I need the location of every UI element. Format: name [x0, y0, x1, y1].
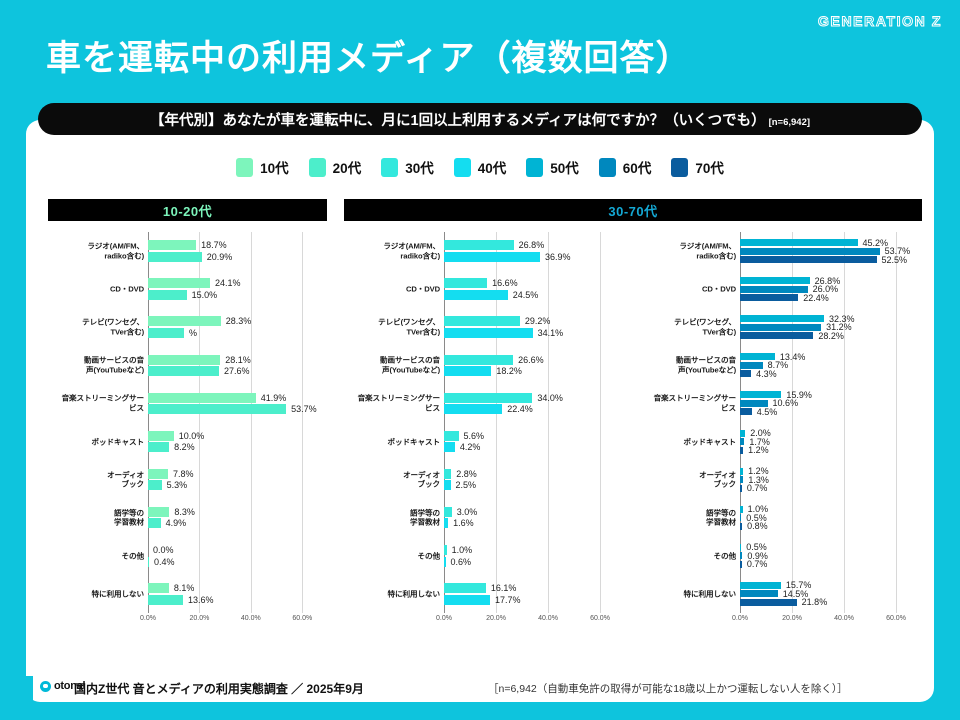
- bar-70代: 0.7%: [740, 485, 922, 492]
- x-tick-label: 0.0%: [732, 615, 748, 622]
- legend: 10代20代30代40代50代60代70代: [26, 157, 934, 177]
- legend-swatch-icon: [526, 158, 543, 177]
- category-label: ポッドキャスト: [48, 437, 144, 446]
- category-label: 語学等の学習教材: [640, 508, 736, 527]
- footer-title: 国内Z世代 音とメディアの利用実態調査 ／ 2025年9月: [74, 680, 364, 697]
- bar-40代: 4.2%: [444, 442, 626, 452]
- x-tick-label: 60.0%: [886, 615, 906, 622]
- category-label: ラジオ(AM/FM、radiko含む): [344, 242, 440, 261]
- bar-10代: 7.8%: [148, 469, 328, 479]
- category-label: ポッドキャスト: [344, 437, 440, 446]
- legend-item-60代: 60代: [599, 157, 652, 177]
- category-label: CD・DVD: [48, 284, 144, 293]
- bar-40代: 17.7%: [444, 595, 626, 605]
- x-tick-label: 60.0%: [590, 615, 610, 622]
- chart-category-row: 語学等の学習教材3.0%1.6%: [344, 499, 626, 537]
- bar-20代: 5.3%: [148, 480, 328, 490]
- bar-30代: 16.6%: [444, 278, 626, 288]
- bar-rect: [148, 518, 161, 528]
- chart-category-row: 音楽ストリーミングサービス34.0%22.4%: [344, 384, 626, 422]
- bar-40代: 24.5%: [444, 290, 626, 300]
- bar-rect: [148, 442, 169, 452]
- bar-50代: 26.8%: [740, 277, 922, 284]
- bar-rect: [740, 286, 808, 293]
- bar-rect: [444, 355, 513, 365]
- category-label: その他: [344, 551, 440, 560]
- bar-rect: [740, 370, 751, 377]
- x-tick-label: 20.0%: [189, 615, 209, 622]
- generation-z-badge: GENERATION Z: [818, 13, 942, 29]
- x-tick-label: 0.0%: [140, 615, 156, 622]
- chart-category-row: オーディオブック2.8%2.5%: [344, 461, 626, 499]
- bar-value-label: 36.9%: [545, 252, 571, 262]
- bar-10代: 18.7%: [148, 240, 328, 250]
- legend-label: 10代: [260, 157, 289, 177]
- bar-30代: 26.6%: [444, 355, 626, 365]
- bar-group: 16.6%24.5%: [444, 270, 626, 308]
- bar-40代: 2.5%: [444, 480, 626, 490]
- bar-10代: 10.0%: [148, 431, 328, 441]
- bar-group: 13.4%8.7%4.3%: [740, 346, 922, 384]
- bar-rect: [740, 544, 741, 551]
- chart-category-row: CD・DVD24.1%15.0%: [48, 270, 328, 308]
- bar-rect: [148, 431, 174, 441]
- bar-rect: [148, 355, 220, 365]
- bar-40代: 18.2%: [444, 366, 626, 376]
- bar-group: 26.8%36.9%: [444, 232, 626, 270]
- bar-10代: 41.9%: [148, 393, 328, 403]
- x-tick-label: 40.0%: [241, 615, 261, 622]
- bar-rect: [148, 480, 162, 490]
- bar-20代: 53.7%: [148, 404, 328, 414]
- bar-rect: [444, 595, 490, 605]
- bar-70代: 1.2%: [740, 447, 922, 454]
- legend-swatch-icon: [309, 158, 326, 177]
- chart-category-row: 動画サービスの音声(YouTubeなど)13.4%8.7%4.3%: [640, 346, 922, 384]
- chart-category-row: CD・DVD16.6%24.5%: [344, 270, 626, 308]
- chart-category-row: テレビ(ワンセグ、TVer含む)32.3%31.2%28.2%: [640, 308, 922, 346]
- page-title: 車を運転中の利用メディア（複数回答）: [46, 30, 692, 81]
- footer-note: ［n=6,942（自動車免許の取得が可能な18歳以上かつ運転しない人を除く）］: [488, 681, 848, 696]
- bar-value-label: 1.0%: [452, 545, 473, 555]
- chart-category-row: ポッドキャスト5.6%4.2%: [344, 423, 626, 461]
- bar-value-label: 0.7%: [747, 559, 768, 569]
- chart-panel-50-70: ラジオ(AM/FM、radiko含む)45.2%53.7%52.5%CD・DVD…: [640, 232, 922, 642]
- bar-value-label: 0.8%: [747, 521, 768, 531]
- bar-60代: 8.7%: [740, 362, 922, 369]
- bar-40代: 36.9%: [444, 252, 626, 262]
- x-axis-ticks: 0.0%20.0%40.0%60.0%: [740, 615, 922, 629]
- bar-value-label: 0.7%: [747, 483, 768, 493]
- bar-group: 15.9%10.6%4.5%: [740, 384, 922, 422]
- bar-rect: [740, 552, 742, 559]
- bar-rect: [740, 561, 742, 568]
- bar-60代: 1.3%: [740, 476, 922, 483]
- category-label: 特に利用しない: [48, 589, 144, 598]
- bar-rect: [740, 248, 880, 255]
- bar-group: 1.2%1.3%0.7%: [740, 461, 922, 499]
- legend-label: 50代: [550, 157, 579, 177]
- bar-70代: 21.8%: [740, 599, 922, 606]
- bar-value-label: 18.7%: [201, 240, 227, 250]
- bar-group: 24.1%15.0%: [148, 270, 328, 308]
- bar-value-label: 3.0%: [457, 507, 478, 517]
- legend-swatch-icon: [454, 158, 471, 177]
- chart-category-row: 特に利用しない15.7%14.5%21.8%: [640, 575, 922, 613]
- bar-rect: [148, 469, 168, 479]
- bar-rect: [148, 366, 219, 376]
- bar-rect: [740, 506, 743, 513]
- bar-30代: 5.6%: [444, 431, 626, 441]
- bar-value-label: 26.6%: [518, 355, 544, 365]
- bar-50代: 1.0%: [740, 506, 922, 513]
- category-label: 語学等の学習教材: [48, 508, 144, 527]
- bar-rect: [444, 442, 455, 452]
- question-text: 【年代別】あなたが車を運転中に、月に1回以上利用するメディアは何ですか？（いくつ…: [150, 109, 766, 130]
- category-label: その他: [640, 551, 736, 560]
- chart-category-row: オーディオブック7.8%5.3%: [48, 461, 328, 499]
- x-tick-label: 40.0%: [834, 615, 854, 622]
- x-tick-label: 20.0%: [486, 615, 506, 622]
- bar-group: 1.0%0.6%: [444, 537, 626, 575]
- chart-panel-10-20: ラジオ(AM/FM、radiko含む)18.7%20.9%CD・DVD24.1%…: [48, 232, 328, 642]
- bar-value-label: 13.6%: [188, 595, 214, 605]
- bar-rect: [444, 278, 487, 288]
- category-label: 動画サービスの音声(YouTubeなど): [48, 356, 144, 375]
- bar-value-label: 1.6%: [453, 518, 474, 528]
- chart-category-row: その他1.0%0.6%: [344, 537, 626, 575]
- chart-category-row: 特に利用しない8.1%13.6%: [48, 575, 328, 613]
- bar-value-label: 20.9%: [207, 252, 233, 262]
- bar-rect: [148, 316, 221, 326]
- bar-group: 16.1%17.7%: [444, 575, 626, 613]
- bar-50代: 32.3%: [740, 315, 922, 322]
- bar-value-label: 5.6%: [464, 431, 485, 441]
- bar-rect: [740, 353, 775, 360]
- category-label: オーディオブック: [344, 470, 440, 489]
- bar-rect: [740, 391, 781, 398]
- bar-value-label: 5.3%: [167, 480, 188, 490]
- legend-item-30代: 30代: [381, 157, 434, 177]
- bar-60代: 26.0%: [740, 286, 922, 293]
- chart-category-row: 動画サービスの音声(YouTubeなど)28.1%27.6%: [48, 346, 328, 384]
- slide-root: GENERATION Z 車を運転中の利用メディア（複数回答） 【年代別】あなた…: [0, 0, 960, 720]
- bar-rect: [148, 278, 210, 288]
- bar-group: 29.2%34.1%: [444, 308, 626, 346]
- bar-70代: 0.7%: [740, 561, 922, 568]
- bar-rect: [148, 404, 286, 414]
- bar-rect: [740, 582, 781, 589]
- chart-category-row: オーディオブック1.2%1.3%0.7%: [640, 461, 922, 499]
- bar-10代: 28.3%: [148, 316, 328, 326]
- legend-label: 30代: [405, 157, 434, 177]
- bar-rect: [148, 595, 183, 605]
- bar-group: 26.8%26.0%22.4%: [740, 270, 922, 308]
- bar-60代: 1.7%: [740, 438, 922, 445]
- bar-group: 28.1%27.6%: [148, 346, 328, 384]
- chart-category-row: ラジオ(AM/FM、radiko含む)45.2%53.7%52.5%: [640, 232, 922, 270]
- bar-20代: 13.6%: [148, 595, 328, 605]
- category-label: ラジオ(AM/FM、radiko含む): [48, 242, 144, 261]
- bar-20代: 15.0%: [148, 290, 328, 300]
- panel-header-10-20: 10-20代: [48, 199, 327, 221]
- chart-category-row: ラジオ(AM/FM、radiko含む)18.7%20.9%: [48, 232, 328, 270]
- legend-item-70代: 70代: [671, 157, 724, 177]
- bar-rect: [740, 256, 877, 263]
- bar-value-label: 18.2%: [496, 366, 522, 376]
- bar-group: 0.5%0.9%0.7%: [740, 537, 922, 575]
- panel-header-30-70: 30-70代: [344, 199, 922, 221]
- bar-group: 15.7%14.5%21.8%: [740, 575, 922, 613]
- footer: otonal 国内Z世代 音とメディアの利用実態調査 ／ 2025年9月 ［n=…: [26, 676, 934, 702]
- bar-60代: 14.5%: [740, 590, 922, 597]
- legend-label: 60代: [623, 157, 652, 177]
- bar-rect: [148, 507, 169, 517]
- plot-area: ラジオ(AM/FM、radiko含む)26.8%36.9%CD・DVD16.6%…: [344, 232, 626, 627]
- bar-rect: [444, 328, 533, 338]
- bar-group: 7.8%5.3%: [148, 461, 328, 499]
- bar-rect: [148, 240, 196, 250]
- category-label: テレビ(ワンセグ、TVer含む): [640, 318, 736, 337]
- chart-category-row: 音楽ストリーミングサービス41.9%53.7%: [48, 384, 328, 422]
- bar-value-label: 17.7%: [495, 595, 521, 605]
- bar-60代: 0.5%: [740, 514, 922, 521]
- category-label: 特に利用しない: [640, 589, 736, 598]
- bar-20代: 27.6%: [148, 366, 328, 376]
- bar-value-label: 0.6%: [451, 557, 472, 567]
- category-label: 音楽ストリーミングサービス: [344, 394, 440, 413]
- bar-group: 28.3%%: [148, 308, 328, 346]
- legend-label: 40代: [478, 157, 507, 177]
- bar-70代: 22.4%: [740, 294, 922, 301]
- bar-group: 5.6%4.2%: [444, 423, 626, 461]
- bar-20代: %: [148, 328, 328, 338]
- bar-40代: 1.6%: [444, 518, 626, 528]
- bar-40代: 0.6%: [444, 557, 626, 567]
- question-banner: 【年代別】あなたが車を運転中に、月に1回以上利用するメディアは何ですか？（いくつ…: [38, 103, 922, 135]
- legend-swatch-icon: [381, 158, 398, 177]
- x-axis-ticks: 0.0%20.0%40.0%60.0%: [444, 615, 626, 629]
- category-label: 特に利用しない: [344, 589, 440, 598]
- bar-40代: 22.4%: [444, 404, 626, 414]
- category-label: CD・DVD: [640, 284, 736, 293]
- bar-value-label: 22.4%: [507, 404, 533, 414]
- bar-rect: [444, 393, 532, 403]
- category-label: ポッドキャスト: [640, 437, 736, 446]
- bar-rect: [740, 362, 763, 369]
- bar-70代: 28.2%: [740, 332, 922, 339]
- bar-rect: [740, 239, 858, 246]
- bar-rect: [740, 590, 778, 597]
- otonal-mark-icon: [40, 681, 51, 692]
- bar-20代: 0.4%: [148, 557, 328, 567]
- bar-group: 41.9%53.7%: [148, 384, 328, 422]
- bar-value-label: 21.8%: [802, 597, 828, 607]
- x-tick-label: 40.0%: [538, 615, 558, 622]
- bar-value-label: 4.2%: [460, 442, 481, 452]
- chart-category-row: 語学等の学習教材8.3%4.9%: [48, 499, 328, 537]
- bar-value-label: 0.4%: [154, 557, 175, 567]
- bar-rect: [444, 431, 459, 441]
- x-tick-label: 20.0%: [782, 615, 802, 622]
- bar-group: 2.0%1.7%1.2%: [740, 423, 922, 461]
- bar-rect: [148, 252, 202, 262]
- bar-value-label: 26.8%: [519, 240, 545, 250]
- legend-label: 70代: [695, 157, 724, 177]
- panel-header-label: 10-20代: [163, 201, 212, 220]
- bar-value-label: 41.9%: [261, 393, 287, 403]
- bar-value-label: 28.1%: [225, 355, 251, 365]
- category-label: オーディオブック: [640, 470, 736, 489]
- bar-60代: 31.2%: [740, 324, 922, 331]
- bar-10代: 24.1%: [148, 278, 328, 288]
- bar-50代: 2.0%: [740, 430, 922, 437]
- bar-value-label: 4.5%: [757, 407, 778, 417]
- bar-rect: [444, 518, 448, 528]
- chart-category-row: 動画サービスの音声(YouTubeなど)26.6%18.2%: [344, 346, 626, 384]
- bar-50代: 0.5%: [740, 544, 922, 551]
- bar-rect: [740, 430, 745, 437]
- bar-rect: [740, 468, 743, 475]
- bar-value-label: 34.0%: [537, 393, 563, 403]
- x-tick-label: 60.0%: [292, 615, 312, 622]
- bar-rect: [740, 277, 810, 284]
- legend-swatch-icon: [236, 158, 253, 177]
- category-label: 語学等の学習教材: [344, 508, 440, 527]
- bar-group: 3.0%1.6%: [444, 499, 626, 537]
- chart-category-row: 特に利用しない16.1%17.7%: [344, 575, 626, 613]
- bar-value-label: 2.5%: [456, 480, 477, 490]
- category-label: オーディオブック: [48, 470, 144, 489]
- bar-rect: [148, 583, 169, 593]
- category-label: テレビ(ワンセグ、TVer含む): [344, 318, 440, 337]
- legend-swatch-icon: [671, 158, 688, 177]
- category-label: CD・DVD: [344, 284, 440, 293]
- chart-panel-30-40: ラジオ(AM/FM、radiko含む)26.8%36.9%CD・DVD16.6%…: [344, 232, 626, 642]
- question-sample-size: [n=6,942]: [769, 117, 810, 128]
- category-label: 音楽ストリーミングサービス: [640, 394, 736, 413]
- bar-rect: [740, 315, 824, 322]
- bar-30代: 29.2%: [444, 316, 626, 326]
- bar-30代: 26.8%: [444, 240, 626, 250]
- bar-value-label: 16.6%: [492, 278, 518, 288]
- legend-item-10代: 10代: [236, 157, 289, 177]
- bar-value-label: 53.7%: [291, 404, 317, 414]
- bar-70代: 4.5%: [740, 408, 922, 415]
- bar-rect: [444, 469, 451, 479]
- bar-value-label: 34.1%: [538, 328, 564, 338]
- chart-category-row: その他0.0%0.4%: [48, 537, 328, 575]
- legend-swatch-icon: [599, 158, 616, 177]
- bar-value-label: 27.6%: [224, 366, 250, 376]
- chart-category-row: CD・DVD26.8%26.0%22.4%: [640, 270, 922, 308]
- chart-category-row: 音楽ストリーミングサービス15.9%10.6%4.5%: [640, 384, 922, 422]
- category-label: 動画サービスの音声(YouTubeなど): [344, 356, 440, 375]
- x-axis-ticks: 0.0%20.0%40.0%60.0%: [148, 615, 328, 629]
- bar-60代: 10.6%: [740, 400, 922, 407]
- bar-rect: [740, 523, 742, 530]
- bar-value-label: 52.5%: [882, 255, 908, 265]
- bar-group: 34.0%22.4%: [444, 384, 626, 422]
- bar-rect: [740, 514, 741, 521]
- x-tick-label: 0.0%: [436, 615, 452, 622]
- legend-item-20代: 20代: [309, 157, 362, 177]
- bar-30代: 16.1%: [444, 583, 626, 593]
- bar-20代: 20.9%: [148, 252, 328, 262]
- bar-rect: [444, 252, 540, 262]
- bar-rect: [444, 507, 452, 517]
- bar-rect: [148, 557, 149, 567]
- bar-30代: 1.0%: [444, 545, 626, 555]
- bar-rect: [444, 290, 508, 300]
- bar-70代: 52.5%: [740, 256, 922, 263]
- bar-40代: 34.1%: [444, 328, 626, 338]
- bar-50代: 13.4%: [740, 353, 922, 360]
- bar-50代: 15.9%: [740, 391, 922, 398]
- category-label: 動画サービスの音声(YouTubeなど): [640, 356, 736, 375]
- chart-category-row: ラジオ(AM/FM、radiko含む)26.8%36.9%: [344, 232, 626, 270]
- chart-category-row: ポッドキャスト2.0%1.7%1.2%: [640, 423, 922, 461]
- bar-rect: [740, 438, 744, 445]
- legend-item-50代: 50代: [526, 157, 579, 177]
- chart-category-row: テレビ(ワンセグ、TVer含む)28.3%%: [48, 308, 328, 346]
- bar-value-label: 15.0%: [192, 290, 218, 300]
- chart-category-row: 語学等の学習教材1.0%0.5%0.8%: [640, 499, 922, 537]
- bar-rect: [740, 294, 798, 301]
- bar-10代: 8.3%: [148, 507, 328, 517]
- bar-rect: [740, 332, 813, 339]
- bar-70代: 0.8%: [740, 523, 922, 530]
- bar-value-label: 28.2%: [818, 331, 844, 341]
- bar-value-label: %: [189, 328, 197, 338]
- plot-area: ラジオ(AM/FM、radiko含む)18.7%20.9%CD・DVD24.1%…: [48, 232, 328, 627]
- panel-header-label: 30-70代: [608, 201, 657, 220]
- chart-category-row: その他0.5%0.9%0.7%: [640, 537, 922, 575]
- legend-label: 20代: [333, 157, 362, 177]
- bar-value-label: 4.9%: [166, 518, 187, 528]
- bar-60代: 0.9%: [740, 552, 922, 559]
- category-label: テレビ(ワンセグ、TVer含む): [48, 318, 144, 337]
- legend-item-40代: 40代: [454, 157, 507, 177]
- bar-70代: 4.3%: [740, 370, 922, 377]
- bar-rect: [444, 240, 514, 250]
- bar-value-label: 8.3%: [174, 507, 195, 517]
- bar-rect: [740, 476, 743, 483]
- bar-group: 18.7%20.9%: [148, 232, 328, 270]
- bar-group: 2.8%2.5%: [444, 461, 626, 499]
- bar-60代: 53.7%: [740, 248, 922, 255]
- bar-rect: [444, 404, 502, 414]
- bar-rect: [444, 316, 520, 326]
- bar-20代: 8.2%: [148, 442, 328, 452]
- chart-category-row: テレビ(ワンセグ、TVer含む)29.2%34.1%: [344, 308, 626, 346]
- bar-rect: [740, 599, 797, 606]
- bar-rect: [444, 583, 486, 593]
- bar-group: 10.0%8.2%: [148, 423, 328, 461]
- bar-rect: [148, 328, 184, 338]
- bar-rect: [148, 393, 256, 403]
- bar-rect: [148, 290, 187, 300]
- bar-10代: 28.1%: [148, 355, 328, 365]
- bar-value-label: 2.8%: [456, 469, 477, 479]
- bar-rect: [444, 557, 446, 567]
- bar-value-label: 4.3%: [756, 369, 777, 379]
- bar-group: 26.6%18.2%: [444, 346, 626, 384]
- bar-value-label: 1.2%: [748, 445, 769, 455]
- bar-value-label: 7.8%: [173, 469, 194, 479]
- plot-area: ラジオ(AM/FM、radiko含む)45.2%53.7%52.5%CD・DVD…: [640, 232, 922, 627]
- bar-value-label: 24.5%: [513, 290, 539, 300]
